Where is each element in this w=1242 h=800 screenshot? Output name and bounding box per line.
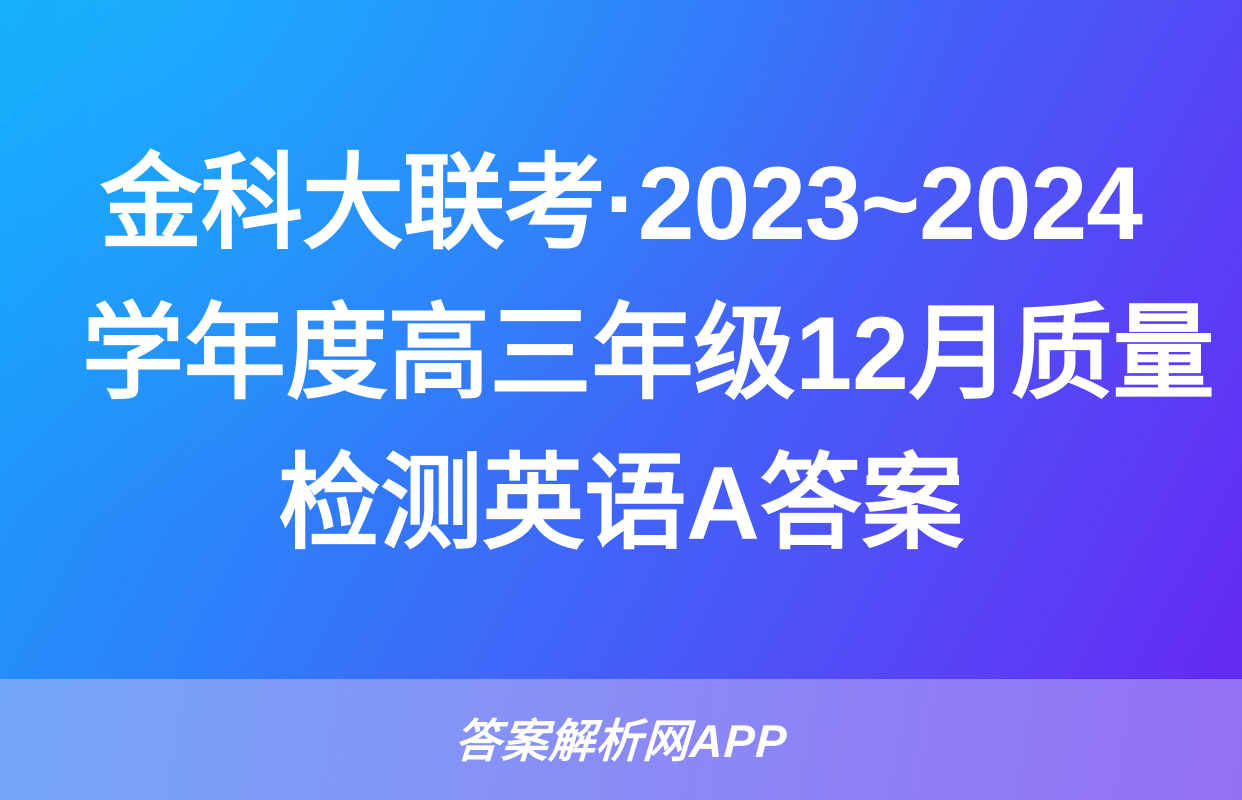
hero-banner: 金科大联考·2023~2024 学年度高三年级12月质量 检测英语A答案 xyxy=(0,0,1242,679)
title-line-1: 金科大联考·2023~2024 xyxy=(82,129,1160,279)
poster-title: 金科大联考·2023~2024 学年度高三年级12月质量 检测英语A答案 xyxy=(71,129,1171,579)
watermark-label: 答案解析网APP xyxy=(453,705,789,771)
title-line-3: 检测英语A答案 xyxy=(82,429,1160,579)
title-line-2: 学年度高三年级12月质量 xyxy=(82,279,1160,429)
poster-canvas: 金科大联考·2023~2024 学年度高三年级12月质量 检测英语A答案 答案解… xyxy=(0,0,1242,800)
footer-watermark-bar: 答案解析网APP xyxy=(0,679,1242,800)
